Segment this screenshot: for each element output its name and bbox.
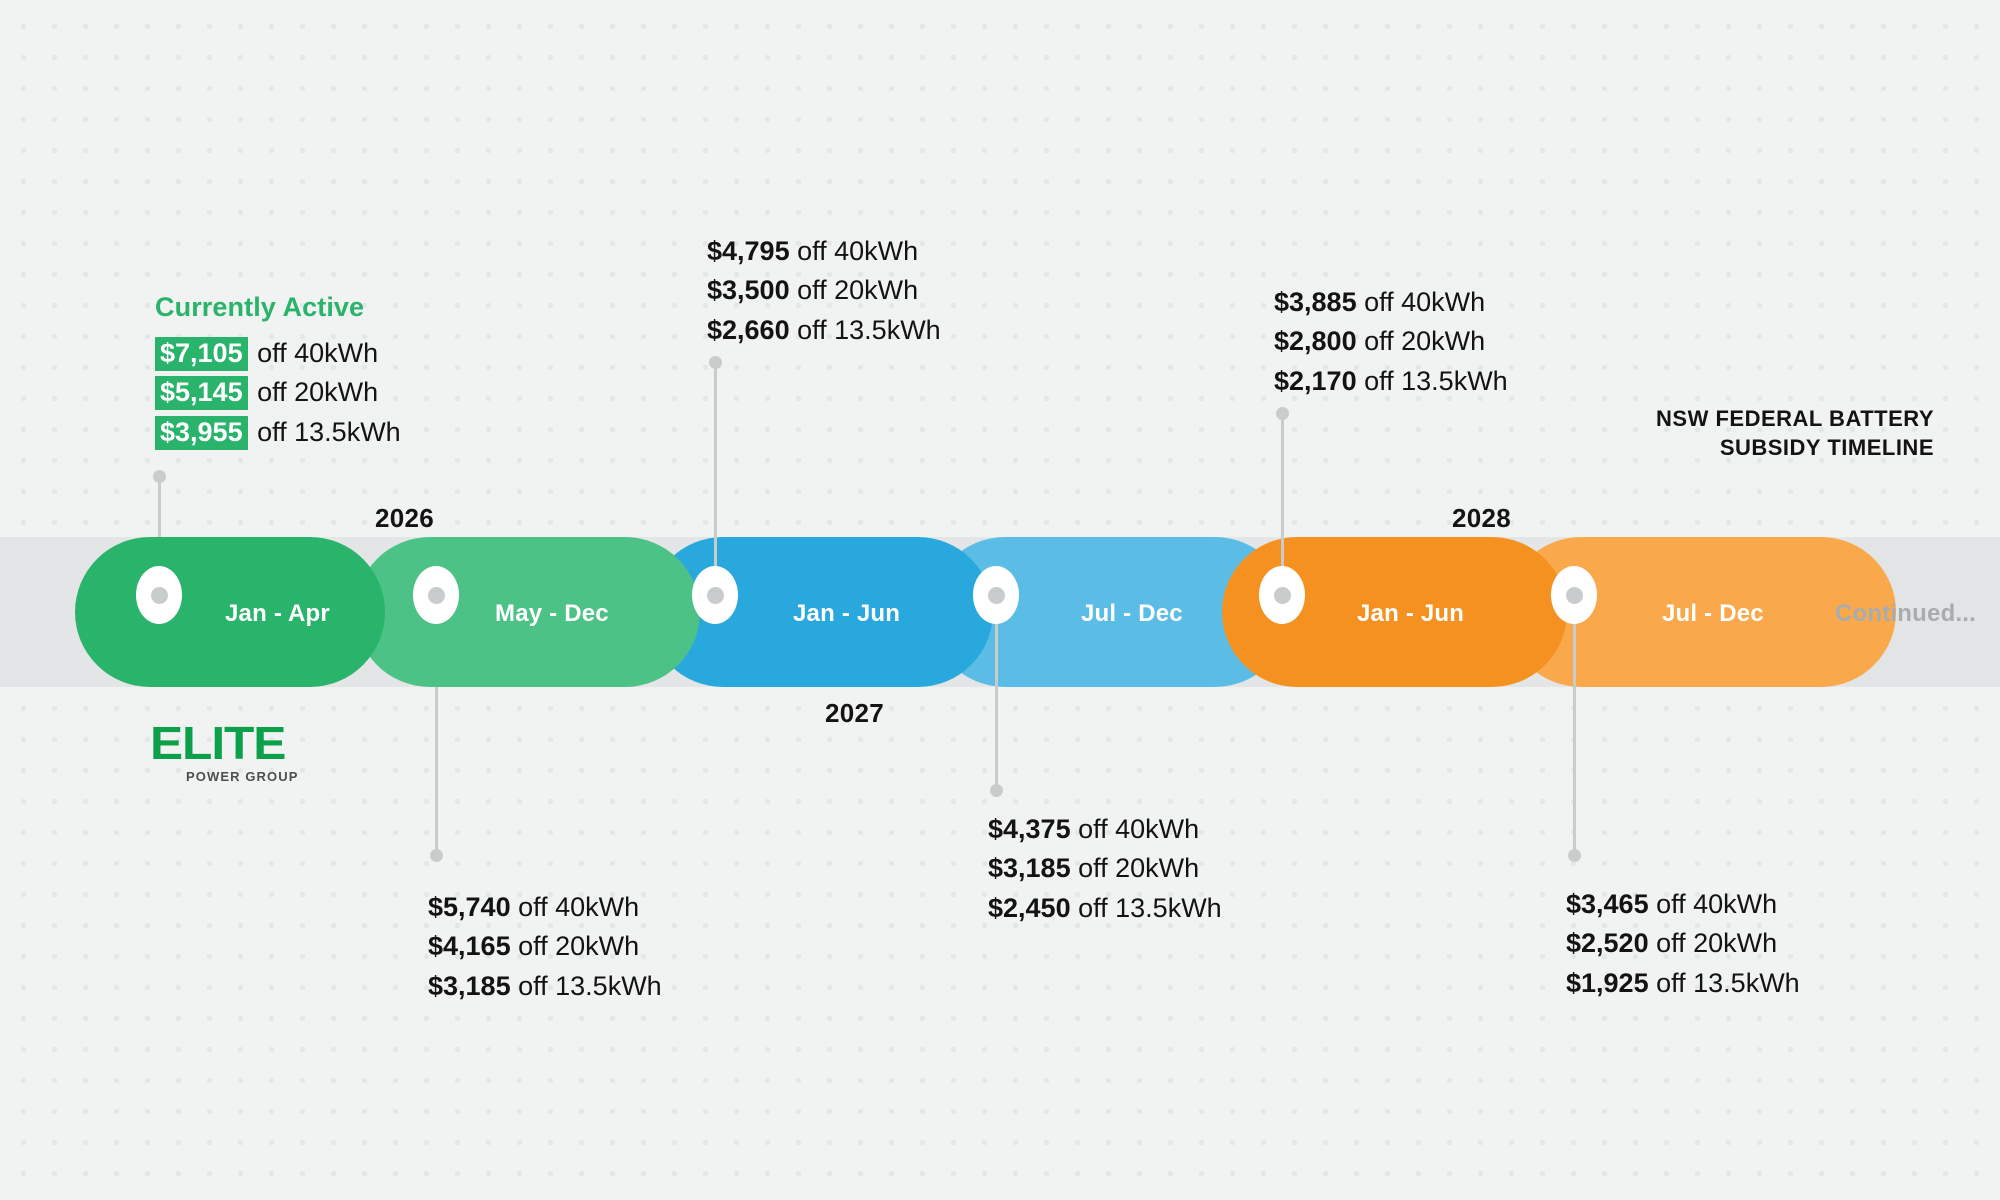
callout-text: off 20kWh [797,275,918,305]
timeline-node-jan-apr-2026[interactable] [136,566,182,624]
callout-text: off 40kWh [518,892,639,922]
segment-label-jul-dec-2027: Jul - Dec [1081,600,1183,628]
callout-amount: $5,740 [428,892,511,922]
segment-label-jan-jun-2027: Jan - Jun [793,600,900,628]
connector-stem-callout-6 [1573,620,1576,855]
callout-text: off 20kWh [1364,326,1485,356]
segment-label-jul-dec-2028: Jul - Dec [1662,600,1764,628]
node-dot [1566,587,1583,604]
callout-amount: $4,795 [707,236,790,266]
segment-label-continued: Continued... [1835,600,1976,628]
callout-may-dec-2026: $5,740 off 40kWh $4,165 off 20kWh $3,185… [428,888,662,1006]
callout-amount: $3,885 [1274,287,1357,317]
connector-stem-callout-3 [714,363,717,598]
callout-row: $4,795 off 40kWh [707,232,941,271]
callout-row: $5,740 off 40kWh [428,888,662,927]
timeline-node-jan-jun-2027[interactable] [692,566,738,624]
callout-text: off 13.5kWh [1364,366,1508,396]
callout-row: $3,185 off 20kWh [988,849,1222,888]
callout-jan-jun-2028: $3,885 off 40kWh $2,800 off 20kWh $2,170… [1274,283,1508,401]
node-dot [988,587,1005,604]
callout-amount: $1,925 [1566,968,1649,998]
elite-power-group-logo: ELITE POWER GROUP [150,722,299,784]
callout-row: $2,170 off 13.5kWh [1274,362,1508,401]
connector-endpoint-callout-5 [1276,407,1289,420]
callout-text: off 20kWh [1078,853,1199,883]
callout-text: off 20kWh [1656,928,1777,958]
callout-amount: $3,465 [1566,889,1649,919]
callout-jul-dec-2027: $4,375 off 40kWh $3,185 off 20kWh $2,450… [988,810,1222,928]
connector-endpoint-callout-1 [153,470,166,483]
callout-row: $3,185 off 13.5kWh [428,967,662,1006]
callout-text: off 13.5kWh [257,417,401,447]
callout-currently-active: Currently Active $7,105 off 40kWh $5,145… [155,292,401,452]
callout-row: $2,800 off 20kWh [1274,322,1508,361]
connector-endpoint-callout-3 [709,356,722,369]
callout-jul-dec-2028: $3,465 off 40kWh $2,520 off 20kWh $1,925… [1566,885,1800,1003]
callout-text: off 20kWh [257,377,378,407]
callout-text: off 13.5kWh [1078,893,1222,923]
connector-endpoint-callout-6 [1568,849,1581,862]
callout-text: off 13.5kWh [797,315,941,345]
title-line-2: SUBSIDY TIMELINE [1656,433,1934,462]
callout-amount: $5,145 [155,376,248,410]
callout-row: $1,925 off 13.5kWh [1566,964,1800,1003]
callout-amount: $3,955 [155,416,248,450]
timeline-node-jan-jun-2028[interactable] [1259,566,1305,624]
callout-text: off 40kWh [257,338,378,368]
callout-row: $5,145 off 20kWh [155,373,401,412]
connector-endpoint-callout-2 [430,849,443,862]
timeline-node-jul-dec-2027[interactable] [973,566,1019,624]
callout-text: off 20kWh [518,931,639,961]
title-line-1: NSW FEDERAL BATTERY [1656,404,1934,433]
callout-amount: $2,170 [1274,366,1357,396]
year-label-2026: 2026 [375,503,434,534]
callout-text: off 40kWh [1364,287,1485,317]
logo-tagline: POWER GROUP [186,769,299,784]
callout-text: off 40kWh [1656,889,1777,919]
segment-label-jan-jun-2028: Jan - Jun [1357,600,1464,628]
callout-amount: $2,450 [988,893,1071,923]
segment-label-may-dec-2026: May - Dec [495,600,609,628]
callout-row: $3,465 off 40kWh [1566,885,1800,924]
timeline-node-may-dec-2026[interactable] [413,566,459,624]
segment-label-jan-apr-2026: Jan - Apr [225,600,330,628]
callout-row: $3,955 off 13.5kWh [155,413,401,452]
callout-row: $4,375 off 40kWh [988,810,1222,849]
callout-text: off 40kWh [1078,814,1199,844]
page-title: NSW FEDERAL BATTERY SUBSIDY TIMELINE [1656,404,1934,463]
callout-heading: Currently Active [155,292,401,323]
connector-endpoint-callout-4 [990,784,1003,797]
callout-amount: $4,375 [988,814,1071,844]
node-dot [428,587,445,604]
callout-amount: $3,500 [707,275,790,305]
callout-row: $2,660 off 13.5kWh [707,311,941,350]
callout-amount: $4,165 [428,931,511,961]
callout-amount: $3,185 [428,971,511,1001]
callout-text: off 13.5kWh [518,971,662,1001]
callout-amount: $3,185 [988,853,1071,883]
callout-row: $7,105 off 40kWh [155,334,401,373]
callout-row: $4,165 off 20kWh [428,927,662,966]
callout-row: $2,450 off 13.5kWh [988,889,1222,928]
infographic-stage: NSW FEDERAL BATTERY SUBSIDY TIMELINE Jan… [0,0,2000,1200]
callout-jan-jun-2027: $4,795 off 40kWh $3,500 off 20kWh $2,660… [707,232,941,350]
callout-amount: $2,660 [707,315,790,345]
callout-amount: $2,800 [1274,326,1357,356]
node-dot [707,587,724,604]
timeline-node-jul-dec-2028[interactable] [1551,566,1597,624]
node-dot [151,587,168,604]
connector-stem-callout-4 [995,620,998,790]
logo-wordmark: ELITE [150,722,310,766]
callout-text: off 40kWh [797,236,918,266]
year-label-2028: 2028 [1452,503,1511,534]
callout-amount: $7,105 [155,337,248,371]
callout-amount: $2,520 [1566,928,1649,958]
callout-row: $3,885 off 40kWh [1274,283,1508,322]
callout-row: $3,500 off 20kWh [707,271,941,310]
callout-row: $2,520 off 20kWh [1566,924,1800,963]
callout-text: off 13.5kWh [1656,968,1800,998]
node-dot [1274,587,1291,604]
year-label-2027: 2027 [825,698,884,729]
